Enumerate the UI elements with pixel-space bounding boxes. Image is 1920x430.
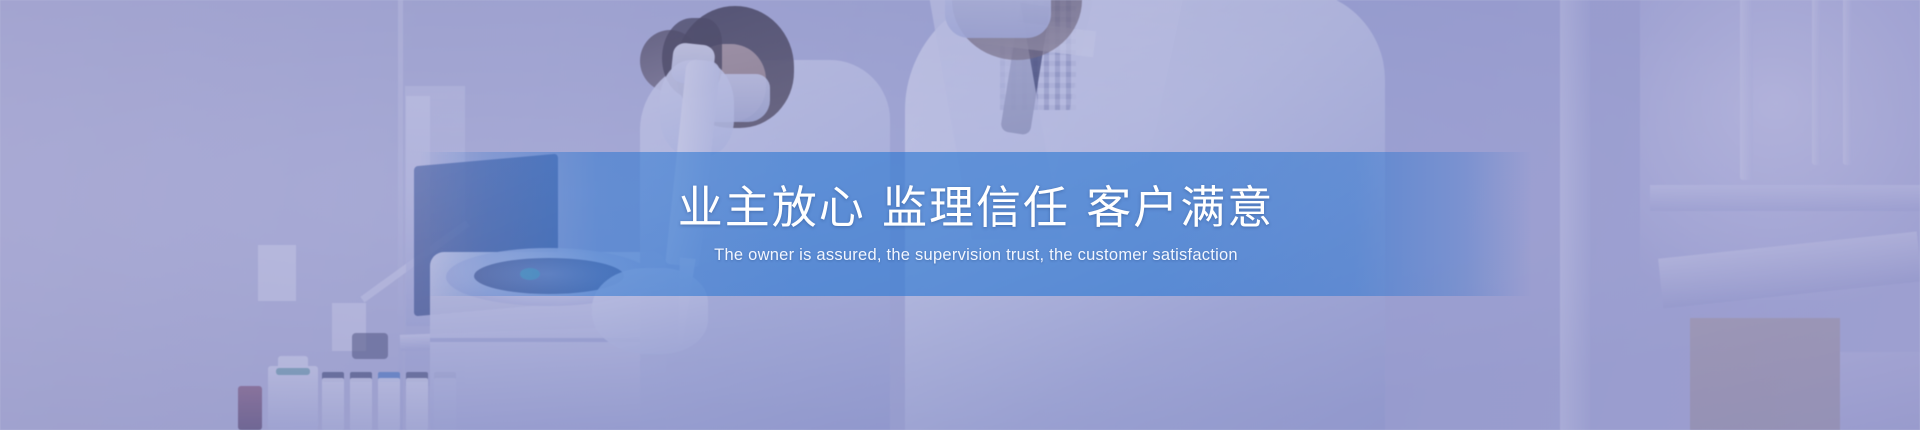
headline-band: 业主放心 监理信任 客户满意 The owner is assured, the… — [420, 152, 1532, 296]
banner-headline: 业主放心 监理信任 客户满意 — [678, 183, 1275, 233]
hero-banner: 业主放心 监理信任 客户满意 The owner is assured, the… — [0, 0, 1920, 430]
headline-band-content: 业主放心 监理信任 客户满意 The owner is assured, the… — [420, 152, 1532, 296]
banner-subheadline: The owner is assured, the supervision tr… — [714, 246, 1238, 265]
